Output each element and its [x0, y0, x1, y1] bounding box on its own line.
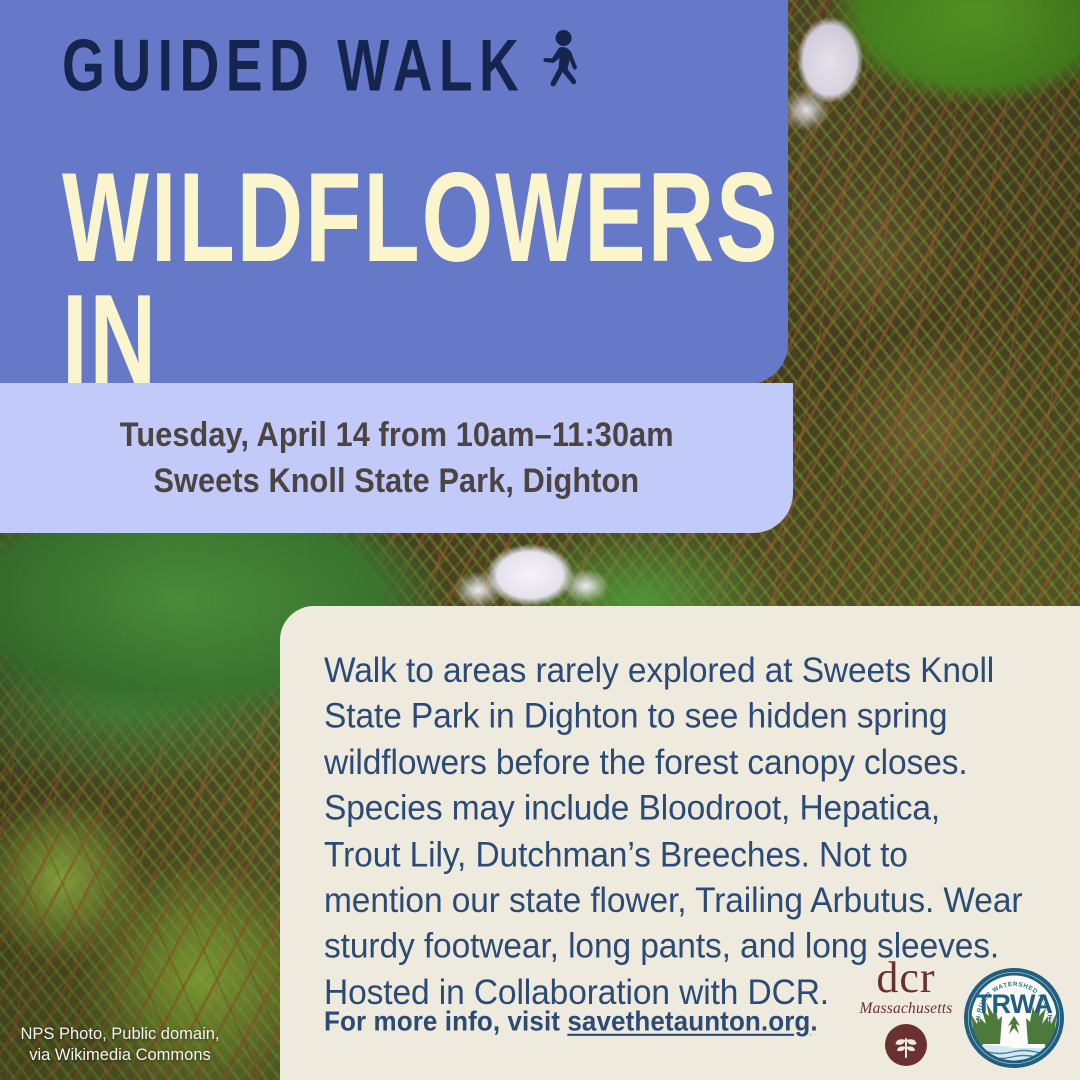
event-kicker: GUIDED WALK [62, 22, 702, 110]
title-panel-content: GUIDED WALK WILDFLOWERS IN SPRING [0, 0, 788, 384]
event-location: Sweets Knoll State Park, Dighton [154, 461, 640, 501]
event-kicker-label: GUIDED WALK [62, 29, 525, 102]
more-info-line: For more info, visit savethetaunton.org. [324, 1005, 818, 1038]
title-panel: GUIDED WALK WILDFLOWERS IN SPRING [0, 0, 788, 384]
plant-sprig-icon [885, 1024, 927, 1066]
trwa-acronym: TRWA [976, 989, 1053, 1019]
partner-logos: dcr Massachusetts [858, 958, 1066, 1070]
trwa-logo: TAUNTON RIVER WATERSHED ALLIANCE, INC. T… [962, 966, 1066, 1070]
dcr-wordmark: dcr [876, 958, 935, 998]
walking-person-icon [536, 30, 586, 102]
description-panel: Walk to areas rarely explored at Sweets … [280, 606, 1080, 1080]
dcr-logo: dcr Massachusetts [858, 958, 954, 1070]
event-details-panel: Tuesday, April 14 from 10am–11:30am Swee… [0, 383, 793, 533]
photo-credit: NPS Photo, Public domain, via Wikimedia … [14, 1024, 226, 1066]
more-info-suffix: . [810, 1005, 817, 1037]
website-link[interactable]: savethetaunton.org [567, 1005, 810, 1037]
dcr-subtitle: Massachusetts [859, 1000, 952, 1018]
more-info-prefix: For more info, visit [324, 1005, 567, 1037]
event-datetime: Tuesday, April 14 from 10am–11:30am [120, 415, 674, 455]
